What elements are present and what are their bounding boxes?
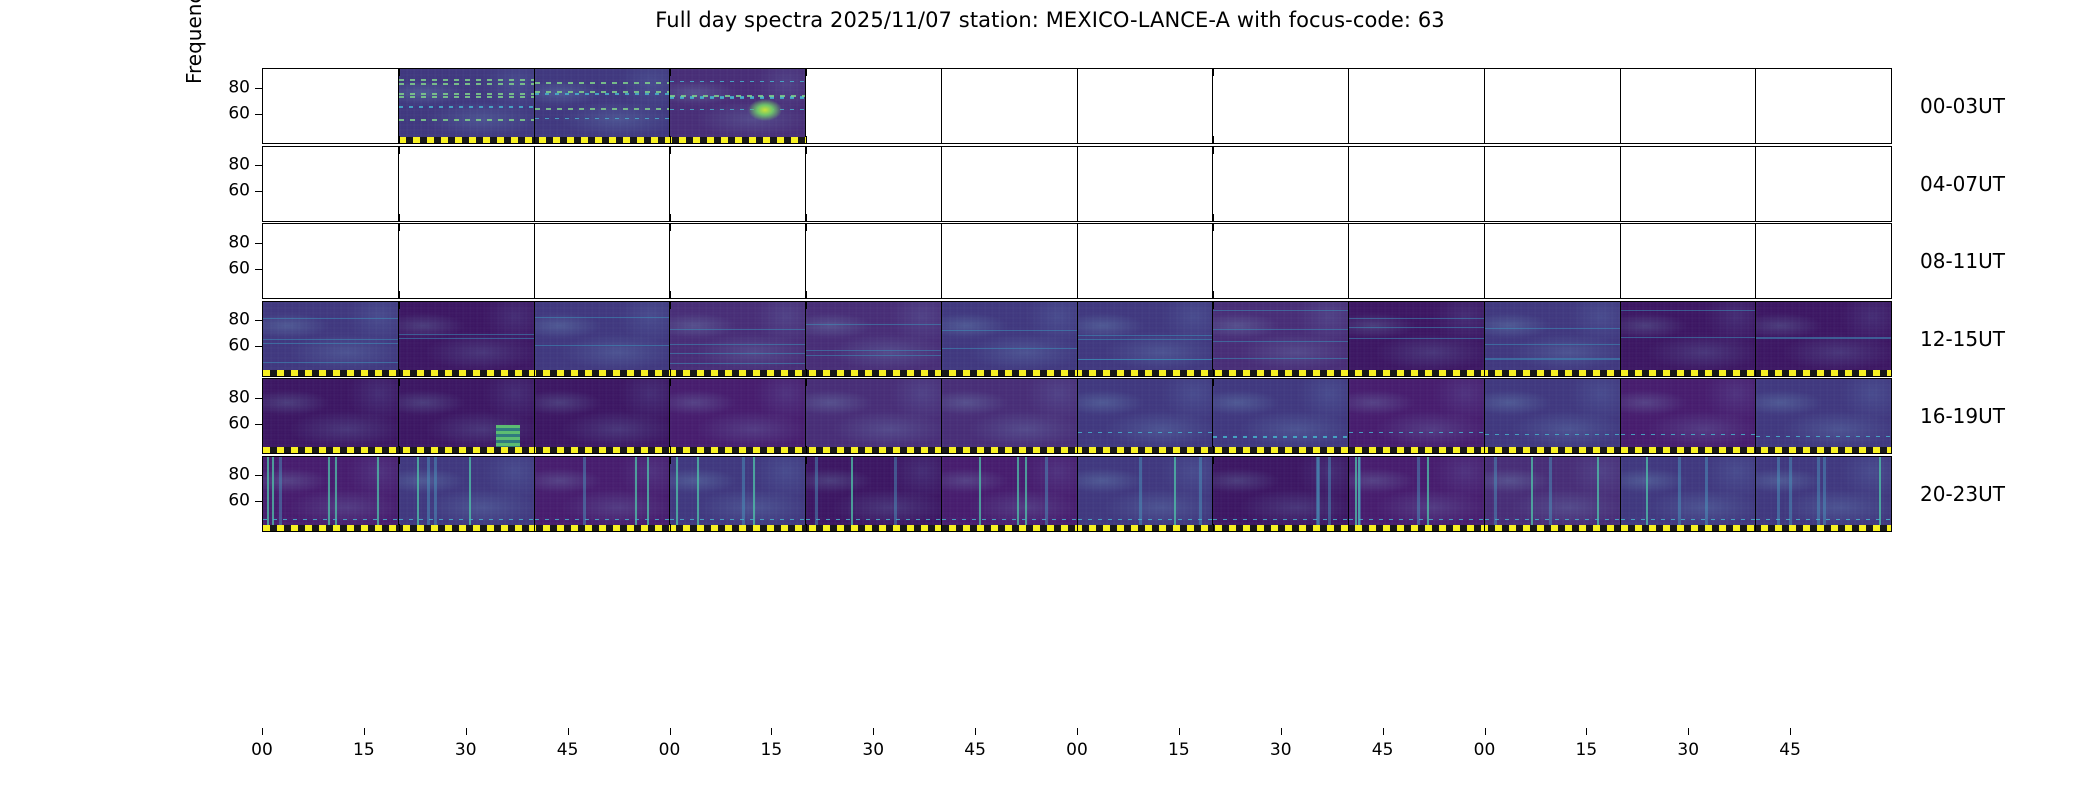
panel-tick (1348, 446, 1349, 453)
spectrogram-panel[interactable] (535, 457, 671, 531)
panel-tick (1348, 457, 1349, 464)
panel-tick (534, 69, 535, 76)
panel-tick (806, 147, 807, 154)
panel-tick (1620, 69, 1621, 76)
panel-tick (534, 379, 535, 386)
panel-tick (1213, 302, 1214, 309)
x-tick-label: 15 (1168, 740, 1190, 760)
panel-tick (1755, 302, 1756, 309)
spectrogram-panel[interactable] (263, 69, 399, 143)
panel-tick (806, 136, 807, 143)
panel-tick (534, 446, 535, 453)
panel-tick (1484, 369, 1485, 376)
x-tick-label: 00 (251, 740, 273, 760)
panel-tick (1213, 69, 1214, 76)
panel-tick (1348, 291, 1349, 298)
x-tick-label: 45 (1372, 740, 1394, 760)
x-tick-label: 30 (862, 740, 884, 760)
panel-tick (1484, 214, 1485, 221)
x-tick-mark (1790, 728, 1791, 735)
spectrogram-panel[interactable] (1485, 457, 1621, 531)
y-tick-label: 60 (228, 415, 250, 432)
panel-tick (1484, 147, 1485, 154)
x-tick-label: 00 (1066, 740, 1088, 760)
spectrogram-panel[interactable] (263, 379, 399, 453)
panel-tick (1077, 147, 1078, 154)
x-tick-label: 00 (659, 740, 681, 760)
spectrogram-panel[interactable] (1213, 302, 1349, 376)
x-tick-label: 00 (1474, 740, 1496, 760)
y-tick-label: 60 (228, 260, 250, 277)
spectrogram-panel[interactable] (263, 302, 399, 376)
panel-tick (941, 302, 942, 309)
spectrogram-panel[interactable] (1349, 69, 1485, 143)
plot-area[interactable] (262, 456, 1892, 532)
panel-tick (1213, 291, 1214, 298)
panel-tick (534, 302, 535, 309)
x-tick-mark (1688, 728, 1689, 735)
row-label-20-23ut: 20-23UT (1920, 482, 2005, 506)
panel-tick (399, 136, 400, 143)
panel-tick (941, 147, 942, 154)
panel-tick (534, 214, 535, 221)
panel-tick (1348, 379, 1349, 386)
spectrogram-panel[interactable] (1756, 457, 1891, 531)
spectrogram-figure: Full day spectra 2025/11/07 station: MEX… (0, 0, 2100, 800)
spectrogram-panel[interactable] (1756, 69, 1891, 143)
panel-tick (941, 369, 942, 376)
subplot-row-04-07ut: 8060 (262, 146, 1892, 222)
panel-tick (1755, 136, 1756, 143)
y-tick-mark (255, 398, 262, 399)
panel-tick (670, 224, 671, 231)
plot-area[interactable] (262, 223, 1892, 299)
subplot-row-20-23ut: 8060 (262, 456, 1892, 532)
spectrogram-panel[interactable] (806, 457, 942, 531)
panel-tick (670, 457, 671, 464)
panel-tick (1077, 224, 1078, 231)
panel-tick (1348, 224, 1349, 231)
spectrogram-panel[interactable] (263, 224, 399, 298)
panel-tick (941, 524, 942, 531)
x-tick-mark (670, 728, 671, 735)
panel-tick (399, 524, 400, 531)
panel-tick (806, 224, 807, 231)
spectrogram-panel[interactable] (1349, 457, 1485, 531)
panel-tick (1213, 136, 1214, 143)
panel-tick (1755, 379, 1756, 386)
spectrogram-panel[interactable] (1756, 224, 1891, 298)
y-tick-label: 60 (228, 105, 250, 122)
panel-tick (1755, 457, 1756, 464)
y-tick-mark (255, 424, 262, 425)
panel-tick (670, 302, 671, 309)
panel-tick (1484, 291, 1485, 298)
spectrogram-panel[interactable] (399, 147, 535, 221)
panel-tick (1620, 524, 1621, 531)
spectrogram-panel[interactable] (1756, 302, 1891, 376)
panel-tick (1620, 224, 1621, 231)
data-coverage-marker (399, 137, 806, 143)
panel-tick (534, 457, 535, 464)
panel-tick (1213, 446, 1214, 453)
panel-tick (941, 446, 942, 453)
panel-tick (1213, 524, 1214, 531)
y-tick-label: 80 (228, 467, 250, 484)
y-tick-mark (255, 88, 262, 89)
y-tick-mark (255, 165, 262, 166)
panel-tick (534, 291, 535, 298)
panel-tick (1484, 457, 1485, 464)
y-tick-mark (255, 114, 262, 115)
subplot-row-16-19ut: 8060 (262, 378, 1892, 454)
panel-tick (1484, 379, 1485, 386)
x-tick-mark (975, 728, 976, 735)
panel-tick (1077, 379, 1078, 386)
panel-tick (1620, 446, 1621, 453)
spectrogram-panel[interactable] (399, 457, 535, 531)
spectrogram-panel[interactable] (1213, 224, 1349, 298)
spectrogram-panel[interactable] (535, 224, 671, 298)
spectrogram-panel[interactable] (806, 69, 942, 143)
spectrogram-panel[interactable] (1485, 224, 1621, 298)
panel-tick (399, 224, 400, 231)
panel-tick (806, 69, 807, 76)
y-tick-label: 80 (228, 79, 250, 96)
panel-tick (1348, 302, 1349, 309)
panel-tick (1620, 214, 1621, 221)
panel-tick (1077, 136, 1078, 143)
panel-tick (1213, 224, 1214, 231)
x-tick-label: 45 (557, 740, 579, 760)
panel-tick (399, 69, 400, 76)
spectrogram-panel[interactable] (399, 69, 535, 143)
panel-tick (1213, 457, 1214, 464)
spectrogram-panel[interactable] (1485, 147, 1621, 221)
spectrogram-panel[interactable] (942, 302, 1078, 376)
spectrogram-panel[interactable] (399, 224, 535, 298)
panel-tick (1484, 69, 1485, 76)
y-tick-mark (255, 475, 262, 476)
panel-tick (1755, 369, 1756, 376)
plot-area[interactable] (262, 146, 1892, 222)
y-tick-mark (255, 243, 262, 244)
panel-tick (670, 147, 671, 154)
spectrogram-panel[interactable] (1213, 69, 1349, 143)
panel-tick (1348, 214, 1349, 221)
panel-tick (1620, 379, 1621, 386)
spectrogram-panel[interactable] (1349, 224, 1485, 298)
panel-tick (806, 446, 807, 453)
x-tick-mark (568, 728, 569, 735)
spectrogram-panel[interactable] (806, 302, 942, 376)
panel-tick (399, 457, 400, 464)
panel-tick (1213, 147, 1214, 154)
x-tick-label: 15 (353, 740, 375, 760)
panel-tick (534, 224, 535, 231)
x-tick-label: 45 (1779, 740, 1801, 760)
y-tick-label: 80 (228, 312, 250, 329)
spectrogram-panel[interactable] (1621, 302, 1757, 376)
spectrogram-panel[interactable] (806, 379, 942, 453)
panel-tick (1077, 446, 1078, 453)
spectrogram-panel[interactable] (399, 302, 535, 376)
panel-tick (399, 291, 400, 298)
panel-tick (1348, 369, 1349, 376)
panel-tick (1755, 446, 1756, 453)
spectrogram-panel[interactable] (1621, 147, 1757, 221)
spectrogram-panel[interactable] (263, 457, 399, 531)
panel-tick (1077, 369, 1078, 376)
spectrogram-panel[interactable] (1621, 379, 1757, 453)
x-tick-label: 30 (1677, 740, 1699, 760)
panel-tick (1755, 524, 1756, 531)
panel-tick (670, 524, 671, 531)
spectrogram-panel[interactable] (1078, 147, 1214, 221)
panel-tick (1484, 224, 1485, 231)
spectrogram-panel[interactable] (1213, 147, 1349, 221)
panel-tick (806, 369, 807, 376)
subplot-row-12-15ut: 8060 (262, 301, 1892, 377)
spectrogram-panel[interactable] (670, 379, 806, 453)
spectrogram-panel[interactable] (1078, 224, 1214, 298)
panel-tick (534, 524, 535, 531)
spectrogram-panel[interactable] (942, 379, 1078, 453)
panel-tick (1620, 302, 1621, 309)
spectrogram-panel[interactable] (806, 224, 942, 298)
y-tick-label: 80 (228, 157, 250, 174)
spectrogram-panel[interactable] (1756, 147, 1891, 221)
spectrogram-panel[interactable] (1485, 379, 1621, 453)
y-tick-label: 80 (228, 389, 250, 406)
row-label-12-15ut: 12-15UT (1920, 327, 2005, 351)
spectrogram-panel[interactable] (1349, 147, 1485, 221)
panel-tick (1077, 291, 1078, 298)
panel-tick (670, 136, 671, 143)
spectrogram-panel[interactable] (1078, 302, 1214, 376)
subplot-row-08-11ut: 8060 (262, 223, 1892, 299)
spectrogram-panel[interactable] (1621, 224, 1757, 298)
panel-tick (1348, 69, 1349, 76)
x-tick-label: 30 (1270, 740, 1292, 760)
x-tick-label: 15 (1576, 740, 1598, 760)
plot-area[interactable] (262, 68, 1892, 144)
spectrogram-panel[interactable] (535, 69, 671, 143)
panel-tick (670, 214, 671, 221)
spectrogram-panel[interactable] (1078, 457, 1214, 531)
panel-tick (806, 379, 807, 386)
spectrogram-panel[interactable] (1756, 379, 1891, 453)
panel-tick (399, 302, 400, 309)
panel-tick (941, 224, 942, 231)
panel-tick (670, 379, 671, 386)
x-tick-label: 15 (761, 740, 783, 760)
panel-tick (806, 524, 807, 531)
spectrogram-panel[interactable] (1349, 302, 1485, 376)
x-tick-mark (873, 728, 874, 735)
panel-tick (399, 214, 400, 221)
panel-tick (806, 291, 807, 298)
panel-tick (1755, 224, 1756, 231)
spectrogram-panel[interactable] (942, 69, 1078, 143)
panel-tick (399, 147, 400, 154)
panel-tick (1620, 457, 1621, 464)
spectrogram-panel[interactable] (1078, 379, 1214, 453)
row-label-16-19ut: 16-19UT (1920, 404, 2005, 428)
panel-tick (1348, 524, 1349, 531)
panel-tick (1077, 457, 1078, 464)
y-tick-label: 80 (228, 234, 250, 251)
spectrogram-panel[interactable] (670, 302, 806, 376)
subplot-row-00-03ut: 8060 (262, 68, 1892, 144)
spectrogram-panel[interactable] (670, 457, 806, 531)
spectrogram-panel[interactable] (1349, 379, 1485, 453)
spectrogram-panel[interactable] (1078, 69, 1214, 143)
spectrogram-panel[interactable] (806, 147, 942, 221)
x-tick-mark (1179, 728, 1180, 735)
spectrogram-panel[interactable] (942, 147, 1078, 221)
row-label-00-03ut: 00-03UT (1920, 94, 2005, 118)
row-label-04-07ut: 04-07UT (1920, 172, 2005, 196)
panel-tick (670, 446, 671, 453)
panel-tick (1755, 147, 1756, 154)
panel-tick (1755, 291, 1756, 298)
y-tick-mark (255, 346, 262, 347)
y-tick-label: 60 (228, 338, 250, 355)
panel-tick (941, 291, 942, 298)
y-axis-label: Frequency [MHz] (182, 0, 206, 160)
panel-tick (1077, 214, 1078, 221)
panel-tick (806, 302, 807, 309)
y-tick-label: 60 (228, 493, 250, 510)
x-tick-mark (1485, 728, 1486, 735)
row-label-08-11ut: 08-11UT (1920, 249, 2005, 273)
panel-tick (670, 69, 671, 76)
plot-area[interactable] (262, 378, 1892, 454)
spectrogram-panel[interactable] (942, 224, 1078, 298)
spectrogram-panel[interactable] (1213, 457, 1349, 531)
spectrogram-panel[interactable] (263, 147, 399, 221)
panel-tick (1077, 302, 1078, 309)
spectrogram-panel[interactable] (399, 379, 535, 453)
page-title: Full day spectra 2025/11/07 station: MEX… (0, 8, 2100, 32)
panel-tick (1484, 524, 1485, 531)
panel-tick (399, 369, 400, 376)
panel-tick (941, 69, 942, 76)
spectrogram-panel[interactable] (1485, 69, 1621, 143)
spectrogram-panel[interactable] (535, 147, 671, 221)
x-tick-mark (1077, 728, 1078, 735)
panel-tick (1213, 369, 1214, 376)
panel-tick (1077, 69, 1078, 76)
x-tick-label: 30 (455, 740, 477, 760)
panel-tick (1620, 136, 1621, 143)
panel-tick (1484, 446, 1485, 453)
x-tick-mark (466, 728, 467, 735)
y-tick-mark (255, 269, 262, 270)
x-tick-mark (262, 728, 263, 735)
spectrogram-panel[interactable] (670, 224, 806, 298)
panel-tick (941, 136, 942, 143)
panel-tick (534, 147, 535, 154)
panel-tick (1755, 69, 1756, 76)
spectrogram-panel[interactable] (1485, 302, 1621, 376)
plot-area[interactable] (262, 301, 1892, 377)
panel-tick (399, 446, 400, 453)
spectrogram-panel[interactable] (1621, 69, 1757, 143)
panel-tick (941, 379, 942, 386)
x-axis: 00153045001530450015304500153045 (262, 728, 1892, 768)
y-tick-mark (255, 320, 262, 321)
panel-tick (399, 379, 400, 386)
x-tick-mark (771, 728, 772, 735)
panel-tick (806, 457, 807, 464)
panel-tick (941, 214, 942, 221)
panel-tick (670, 291, 671, 298)
panel-tick (670, 369, 671, 376)
panel-tick (1620, 369, 1621, 376)
panel-tick (941, 457, 942, 464)
x-tick-mark (1586, 728, 1587, 735)
panel-tick (534, 369, 535, 376)
x-tick-mark (1383, 728, 1384, 735)
panel-tick (1213, 214, 1214, 221)
panel-tick (1620, 147, 1621, 154)
spectrogram-panel[interactable] (1621, 457, 1757, 531)
y-tick-mark (255, 501, 262, 502)
panel-tick (1348, 147, 1349, 154)
panel-tick (1484, 136, 1485, 143)
spectrogram-panel[interactable] (670, 69, 806, 143)
x-tick-label: 45 (964, 740, 986, 760)
panel-tick (1348, 136, 1349, 143)
panel-tick (1213, 379, 1214, 386)
panel-tick (1077, 524, 1078, 531)
spectrogram-panel[interactable] (1213, 379, 1349, 453)
spectrogram-panel[interactable] (942, 457, 1078, 531)
panel-tick (1620, 291, 1621, 298)
panel-tick (806, 214, 807, 221)
x-tick-mark (364, 728, 365, 735)
panel-tick (1755, 214, 1756, 221)
y-tick-label: 60 (228, 183, 250, 200)
panel-tick (534, 136, 535, 143)
x-tick-mark (1281, 728, 1282, 735)
spectrogram-panel[interactable] (670, 147, 806, 221)
spectrogram-panel[interactable] (535, 379, 671, 453)
y-tick-mark (255, 191, 262, 192)
spectrogram-panel[interactable] (535, 302, 671, 376)
panel-tick (1484, 302, 1485, 309)
